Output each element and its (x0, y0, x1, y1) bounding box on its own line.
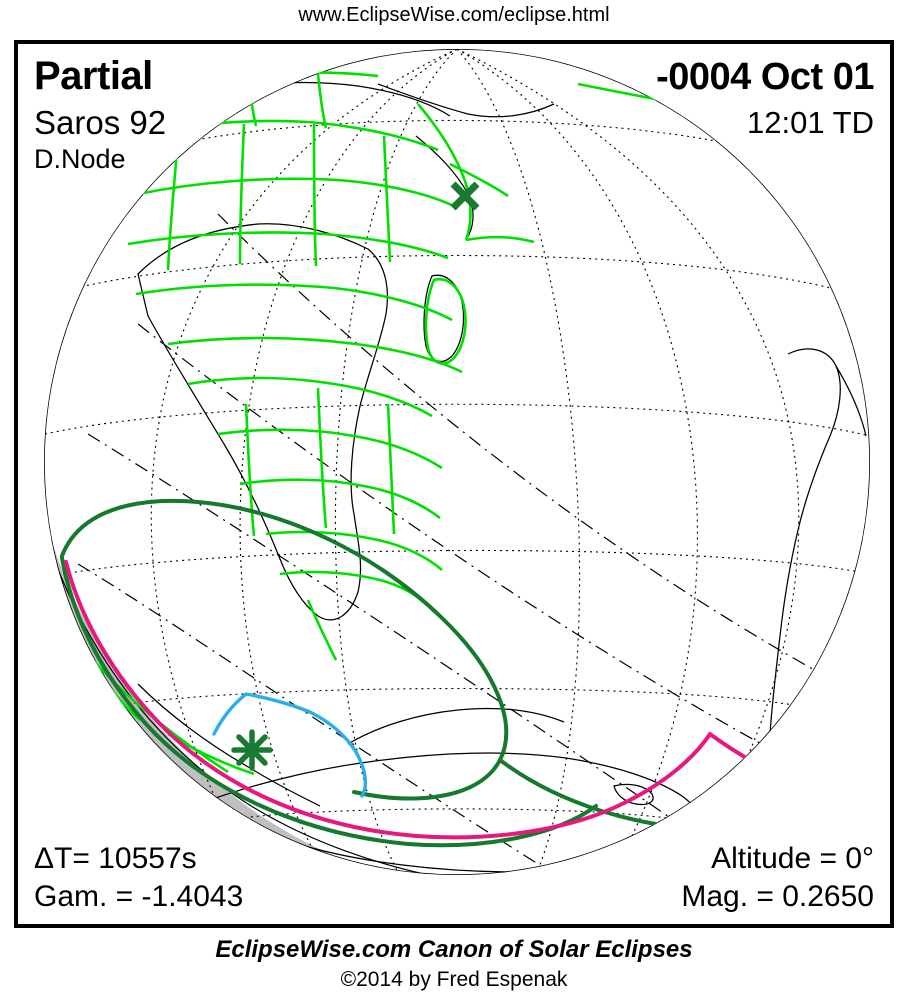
gamma-label: Gam. = -1.4043 (34, 880, 243, 914)
altitude-label: Altitude = 0° (711, 842, 874, 876)
eclipse-map-frame: Partial Saros 92 D.Node -0004 Oct 01 12:… (14, 40, 894, 928)
eclipse-type-label: Partial (34, 54, 153, 99)
credit-author: ©2014 by Fred Espenak (0, 968, 908, 992)
node-label: D.Node (34, 144, 126, 175)
delta-t-label: ΔT= 10557s (34, 842, 197, 876)
credit-title: EclipseWise.com Canon of Solar Eclipses (0, 936, 908, 964)
source-url: www.EclipseWise.com/eclipse.html (0, 4, 908, 27)
eclipse-date-label: -0004 Oct 01 (656, 56, 874, 99)
globe-map (18, 44, 890, 924)
magnitude-label: Mag. = 0.2650 (681, 880, 874, 914)
greatest-eclipse-marker (234, 732, 270, 768)
eclipse-time-label: 12:01 TD (747, 105, 874, 141)
saros-label: Saros 92 (34, 104, 166, 142)
